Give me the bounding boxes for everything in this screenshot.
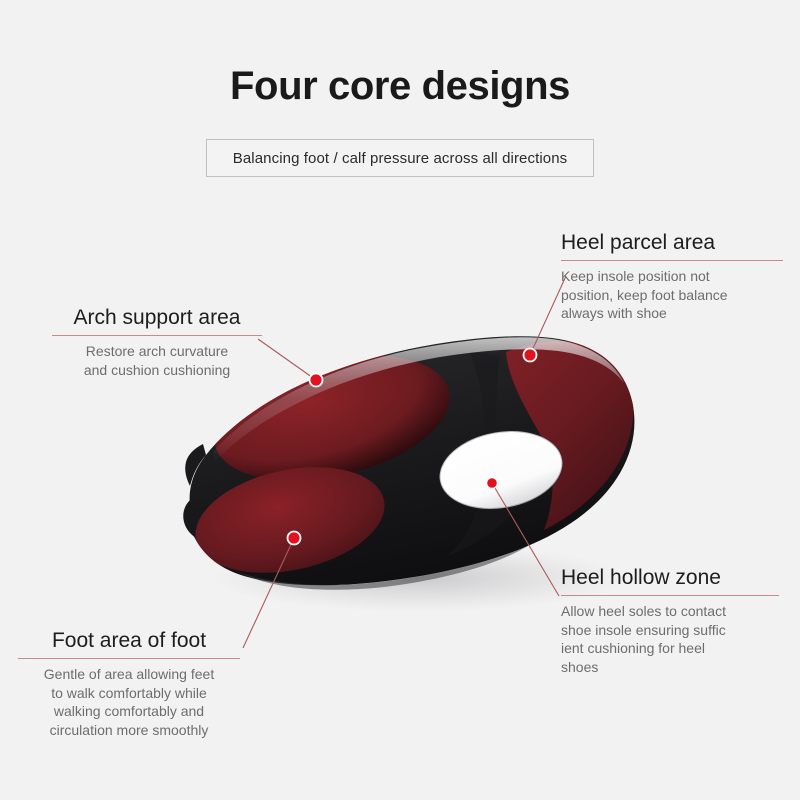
callout-heel-parcel-rule bbox=[561, 260, 783, 261]
callout-arch-support-heading: Arch support area bbox=[52, 306, 262, 330]
heel-parcel-zone bbox=[506, 341, 633, 530]
callout-heel-hollow-rule bbox=[561, 595, 779, 596]
marker-heel-parcel[interactable] bbox=[524, 349, 537, 362]
forefoot-zone bbox=[186, 451, 395, 589]
marker-heel-hollow[interactable] bbox=[487, 478, 498, 489]
marker-foot-area[interactable] bbox=[288, 532, 301, 545]
callout-heel-parcel: Heel parcel area Keep insole position no… bbox=[561, 231, 783, 323]
subtitle-text: Balancing foot / calf pressure across al… bbox=[233, 150, 568, 167]
leader-line-heel-hollow bbox=[492, 483, 559, 596]
page-title: Four core designs bbox=[0, 64, 800, 108]
callout-arch-support-body: Restore arch curvature and cushion cushi… bbox=[52, 342, 262, 379]
callout-heel-hollow: Heel hollow zone Allow heel soles to con… bbox=[561, 566, 779, 677]
callout-foot-area-body: Gentle of area allowing feet to walk com… bbox=[18, 665, 240, 739]
infographic-canvas: Four core designs Balancing foot / calf … bbox=[0, 0, 800, 800]
leader-lines bbox=[243, 276, 566, 648]
leader-line-arch-support bbox=[258, 339, 316, 380]
callout-heel-hollow-body: Allow heel soles to contact shoe insole … bbox=[561, 602, 779, 676]
callout-heel-parcel-heading: Heel parcel area bbox=[561, 231, 783, 255]
callout-heel-hollow-heading: Heel hollow zone bbox=[561, 566, 779, 590]
callout-foot-area-rule bbox=[18, 658, 240, 659]
callout-heel-parcel-body: Keep insole position not position, keep … bbox=[561, 267, 783, 323]
heel-hollow-rim bbox=[433, 422, 568, 518]
callout-arch-support-rule bbox=[52, 335, 262, 336]
marker-arch-support[interactable] bbox=[310, 374, 323, 387]
subtitle-banner: Balancing foot / calf pressure across al… bbox=[206, 139, 594, 177]
insole-top-highlight bbox=[213, 337, 624, 462]
insole-bottom-edge bbox=[238, 546, 528, 590]
heel-hollow-zone bbox=[433, 422, 568, 518]
callout-arch-support: Arch support area Restore arch curvature… bbox=[52, 306, 262, 379]
callout-foot-area-heading: Foot area of foot bbox=[18, 629, 240, 653]
leader-line-foot-area bbox=[243, 538, 294, 648]
callout-foot-area: Foot area of foot Gentle of area allowin… bbox=[18, 629, 240, 740]
insole-markers bbox=[288, 349, 537, 545]
